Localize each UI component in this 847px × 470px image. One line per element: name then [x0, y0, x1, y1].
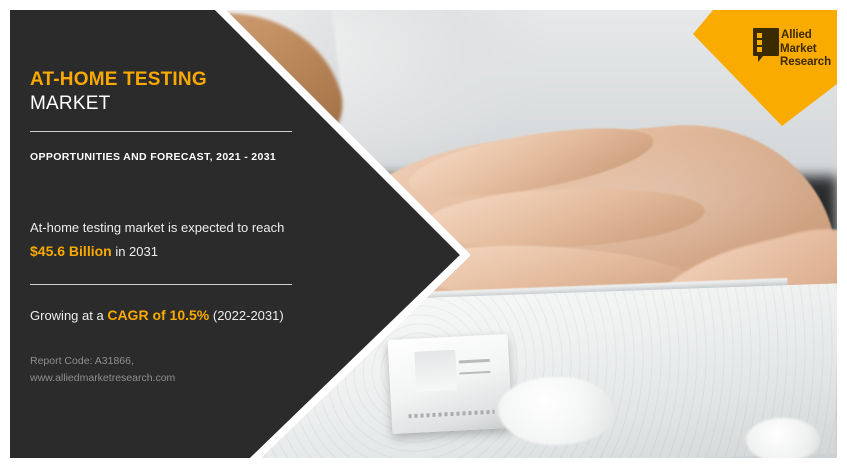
- bubble-bar: [757, 47, 762, 52]
- stat-cagr-suffix: (2022-2031): [209, 308, 283, 323]
- bubble-bar: [757, 33, 762, 38]
- logo-line-3: Research: [780, 56, 831, 70]
- cotton-ball: [498, 377, 614, 444]
- divider-top: [30, 131, 292, 132]
- logo-line-1: Allied: [781, 29, 831, 43]
- cotton-ball-secondary: [746, 418, 820, 458]
- forecast-subtitle: OPPORTUNITIES AND FORECAST, 2021 - 2031: [30, 148, 300, 166]
- stat-value-suffix: in 2031: [112, 244, 158, 259]
- footer-meta: Report Code: A31866, www.alliedmarketres…: [30, 353, 300, 387]
- bubble-bar: [757, 40, 762, 45]
- title-sub: MARKET: [30, 92, 300, 116]
- stat-market-value: At-home testing market is expected to re…: [30, 216, 300, 264]
- bubble-tail: [758, 55, 764, 62]
- cassette-label: [409, 410, 495, 419]
- stat-value-prefix: At-home testing market is expected to re…: [30, 220, 284, 235]
- stat-cagr: Growing at a CAGR of 10.5% (2022-2031): [30, 303, 300, 328]
- panel-content: AT-HOME TESTING MARKET OPPORTUNITIES AND…: [30, 10, 300, 387]
- stat-cagr-highlight: CAGR of 10.5%: [107, 307, 209, 323]
- stat-cagr-prefix: Growing at a: [30, 308, 107, 323]
- cassette-marking: [459, 371, 490, 375]
- test-cassette: [388, 334, 513, 434]
- divider-bottom: [30, 284, 292, 285]
- page-title: AT-HOME TESTING MARKET: [30, 68, 300, 116]
- stat-value-highlight: $45.6 Billion: [30, 243, 112, 259]
- logo-wordmark: Allied Market Research: [781, 28, 831, 70]
- speech-bubble-icon: [753, 28, 779, 62]
- market-report-banner: AT-HOME TESTING MARKET OPPORTUNITIES AND…: [0, 0, 847, 470]
- cassette-window: [415, 350, 458, 392]
- logo-line-2: Market: [780, 43, 831, 57]
- title-main: AT-HOME TESTING: [30, 68, 300, 92]
- allied-market-research-logo[interactable]: Allied Market Research: [753, 28, 831, 70]
- report-code: Report Code: A31866,: [30, 353, 300, 370]
- website-url[interactable]: www.alliedmarketresearch.com: [30, 370, 300, 387]
- cassette-marking: [459, 359, 490, 363]
